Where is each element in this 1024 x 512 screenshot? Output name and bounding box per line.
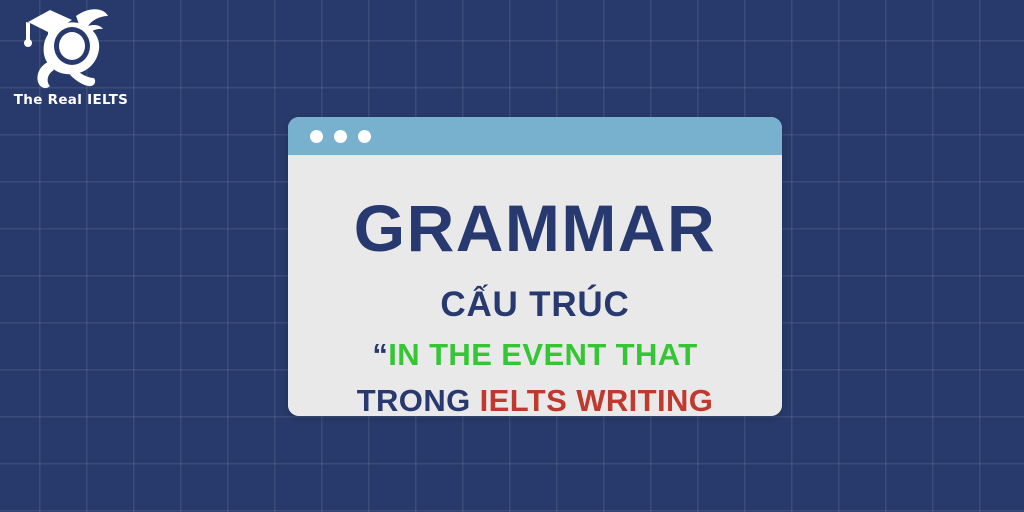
headline-grammar: GRAMMAR xyxy=(288,195,782,261)
poster-canvas: The Real IELTS GRAMMAR CẤU TRÚC “IN THE … xyxy=(0,0,1024,512)
browser-title-bar xyxy=(288,117,782,155)
brand-name: The Real IELTS xyxy=(8,92,134,108)
context-prefix: TRONG xyxy=(357,383,471,416)
structure-phrase-line: “IN THE EVENT THAT xyxy=(288,339,782,370)
browser-window-card: GRAMMAR CẤU TRÚC “IN THE EVENT THAT TRON… xyxy=(288,117,782,416)
browser-content-area: GRAMMAR CẤU TRÚC “IN THE EVENT THAT TRON… xyxy=(288,155,782,416)
window-dot-maximize[interactable] xyxy=(358,130,371,143)
subheading-cau-truc: CẤU TRÚC xyxy=(288,287,782,322)
context-space xyxy=(471,383,480,416)
context-line: TRONG IELTS WRITING xyxy=(288,385,782,416)
structure-phrase: IN THE EVENT THAT xyxy=(388,337,697,372)
window-dot-minimize[interactable] xyxy=(334,130,347,143)
brand-logo: The Real IELTS xyxy=(8,4,134,116)
quote-open-mark: “ xyxy=(372,337,388,372)
context-highlight: IELTS WRITING xyxy=(480,383,714,416)
graduate-owl-icon xyxy=(16,4,120,92)
window-dot-close[interactable] xyxy=(310,130,323,143)
